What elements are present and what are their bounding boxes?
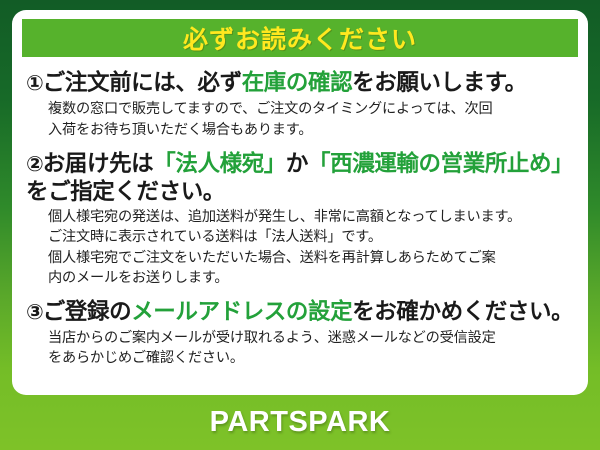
- brand-footer: PARTSPARK: [0, 395, 600, 450]
- notice-heading-text: ご注文前には、必ず: [43, 70, 242, 95]
- notice-highlight-text: 「法人様宛」: [153, 151, 286, 176]
- notice-highlight-text: 「西濃運輸の営業所止め」: [308, 151, 573, 176]
- notice-item-body: 当店からのご案内メールが受け取れるよう、迷惑メールなどの受信設定をあらかじめご確…: [48, 328, 574, 368]
- notice-items: ①ご注文前には、必ず在庫の確認をお願いします。複数の窓口で販売してますので、ご注…: [22, 69, 578, 369]
- notice-body-line: 当店からのご案内メールが受け取れるよう、迷惑メールなどの受信設定: [48, 328, 574, 348]
- notice-body-line: 個人様宅宛でご注文をいただいた場合、送料を再計算しあらためてご案: [48, 248, 574, 268]
- notice-item-body: 複数の窓口で販売してますので、ご注文のタイミングによっては、次回入荷をお待ち頂い…: [48, 99, 574, 139]
- notice-item-heading: ①ご注文前には、必ず在庫の確認をお願いします。: [26, 69, 574, 97]
- notice-body-line: をあらかじめご確認ください。: [48, 348, 574, 368]
- notice-body-line: 内のメールをお送りします。: [48, 268, 574, 288]
- banner-title: 必ずお読みください: [183, 20, 417, 56]
- notice-body-line: 入荷をお待ち頂いただく場合もあります。: [48, 120, 574, 140]
- notice-body-line: ご注文時に表示されている送料は「法人送料」です。: [48, 227, 574, 247]
- notice-highlight-text: メールアドレスの設定: [131, 299, 352, 324]
- notice-heading-text: をお願いします。: [352, 70, 527, 95]
- notice-poster: 必ずお読みください ①ご注文前には、必ず在庫の確認をお願いします。複数の窓口で販…: [0, 0, 600, 450]
- notice-item: ①ご注文前には、必ず在庫の確認をお願いします。複数の窓口で販売してますので、ご注…: [26, 69, 574, 140]
- notice-highlight-text: 在庫の確認: [242, 70, 353, 95]
- notice-heading-text: お届け先は: [43, 151, 154, 176]
- notice-heading-text: ご登録の: [43, 299, 131, 324]
- notice-heading-text: をお確かめください。: [352, 299, 573, 324]
- notice-item-heading: ③ご登録のメールアドレスの設定をお確かめください。: [26, 298, 574, 326]
- notice-banner: 必ずお読みください: [22, 19, 578, 57]
- notice-card: 必ずお読みください ①ご注文前には、必ず在庫の確認をお願いします。複数の窓口で販…: [12, 10, 588, 395]
- notice-item-heading-line2: をご指定ください。: [26, 178, 574, 205]
- notice-item-number: ②: [26, 153, 43, 176]
- notice-item-heading: ②お届け先は「法人様宛」か「西濃運輸の営業所止め」: [26, 150, 574, 178]
- notice-item-number: ①: [26, 72, 43, 95]
- notice-body-line: 複数の窓口で販売してますので、ご注文のタイミングによっては、次回: [48, 99, 574, 119]
- notice-item: ③ご登録のメールアドレスの設定をお確かめください。当店からのご案内メールが受け取…: [26, 298, 574, 369]
- notice-body-line: 個人様宅宛の発送は、追加送料が発生し、非常に高額となってしまいます。: [48, 207, 574, 227]
- notice-item-body: 個人様宅宛の発送は、追加送料が発生し、非常に高額となってしまいます。ご注文時に表…: [48, 207, 574, 288]
- brand-logo-text: PARTSPARK: [210, 406, 391, 439]
- notice-item: ②お届け先は「法人様宛」か「西濃運輸の営業所止め」をご指定ください。個人様宅宛の…: [26, 150, 574, 288]
- notice-heading-text: か: [286, 151, 308, 176]
- notice-item-number: ③: [26, 301, 43, 324]
